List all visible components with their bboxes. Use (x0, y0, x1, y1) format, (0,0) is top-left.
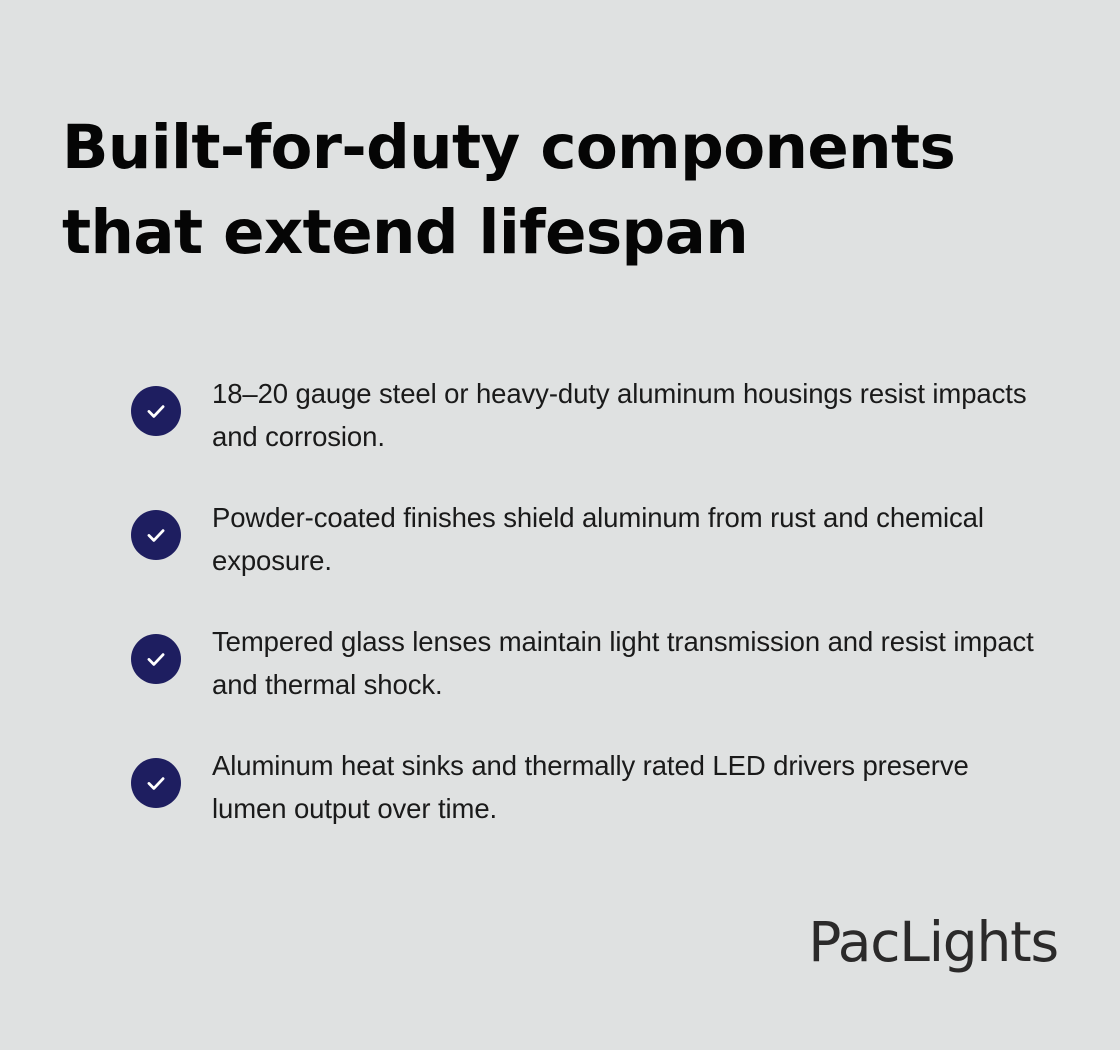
feature-bullet-list: 18–20 gauge steel or heavy-duty aluminum… (131, 372, 1041, 830)
check-circle-icon (131, 758, 181, 808)
list-item-label: Tempered glass lenses maintain light tra… (212, 620, 1041, 706)
list-item: Powder-coated finishes shield aluminum f… (131, 496, 1041, 582)
check-circle-icon (131, 510, 181, 560)
list-item: Tempered glass lenses maintain light tra… (131, 620, 1041, 706)
list-item: Aluminum heat sinks and thermally rated … (131, 744, 1041, 830)
list-item: 18–20 gauge steel or heavy-duty aluminum… (131, 372, 1041, 458)
list-item-label: Powder-coated finishes shield aluminum f… (212, 496, 1041, 582)
list-item-label: Aluminum heat sinks and thermally rated … (212, 744, 1041, 830)
page-title: Built-for-duty components that extend li… (62, 106, 1074, 276)
brand-logo: PacLights (808, 915, 1058, 970)
list-item-label: 18–20 gauge steel or heavy-duty aluminum… (212, 372, 1041, 458)
check-circle-icon (131, 634, 181, 684)
infographic-slide: Built-for-duty components that extend li… (0, 0, 1120, 1050)
check-circle-icon (131, 386, 181, 436)
